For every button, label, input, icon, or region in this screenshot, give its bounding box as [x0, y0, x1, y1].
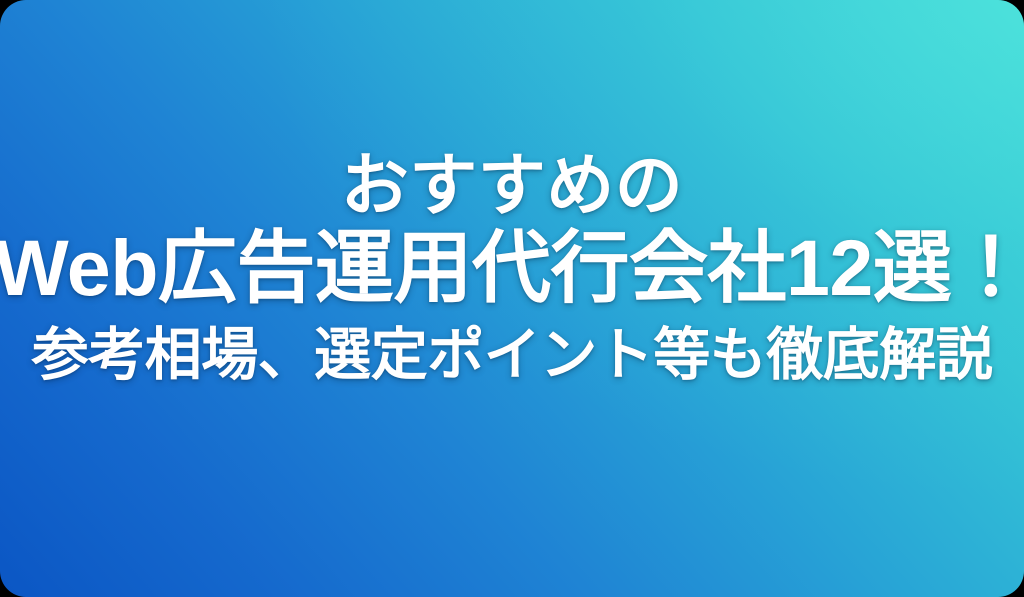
headline-text-block: おすすめの Web広告運用代行会社12選！ 参考相場、選定ポイント等も徹底解説 [0, 150, 1024, 388]
headline-subtitle: 参考相場、選定ポイント等も徹底解説 [32, 323, 993, 388]
headline-main-title: Web広告運用代行会社12選！ [0, 224, 1024, 312]
headline-eyebrow-line: おすすめの [341, 150, 684, 222]
promo-banner-card: おすすめの Web広告運用代行会社12選！ 参考相場、選定ポイント等も徹底解説 [0, 0, 1024, 597]
